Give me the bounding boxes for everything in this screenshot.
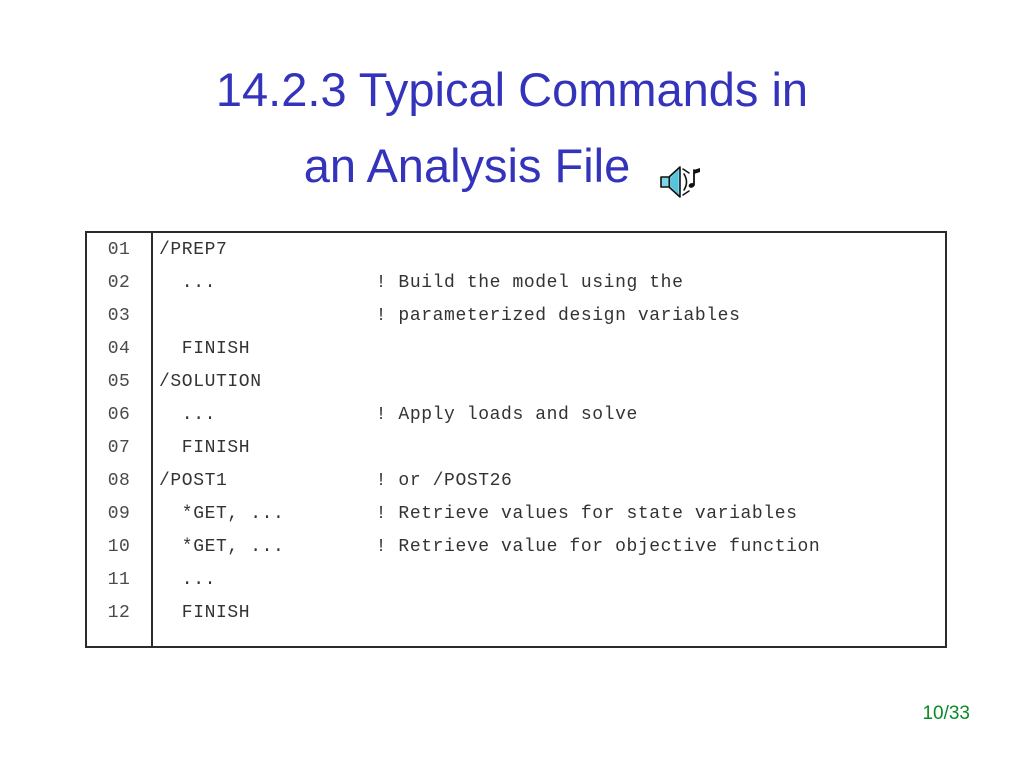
code-line-text: /POST1 ! or /POST26 [151, 471, 945, 491]
code-line-number: 04 [87, 339, 151, 359]
code-line-number: 12 [87, 603, 151, 623]
code-line-row: 05/SOLUTION [87, 365, 945, 398]
code-line-text: *GET, ... ! Retrieve value for objective… [151, 537, 945, 557]
code-line-text: ... [151, 570, 945, 590]
code-line-text: FINISH [151, 603, 945, 623]
code-line-row: 03 ! parameterized design variables [87, 299, 945, 332]
code-line-list: 01/PREP702 ... ! Build the model using t… [87, 233, 945, 629]
code-line-row: 01/PREP7 [87, 233, 945, 266]
page-title-line-1: 14.2.3 Typical Commands in [0, 52, 1024, 128]
page-title: 14.2.3 Typical Commands in an Analysis F… [0, 52, 1024, 204]
code-line-row: 04 FINISH [87, 332, 945, 365]
code-line-row: 06 ... ! Apply loads and solve [87, 398, 945, 431]
code-line-row: 07 FINISH [87, 431, 945, 464]
code-line-text: FINISH [151, 438, 945, 458]
page-title-line-2-wrap: an Analysis File [0, 128, 1016, 204]
code-line-row: 10 *GET, ... ! Retrieve value for object… [87, 530, 945, 563]
page-title-line-2: an Analysis File [304, 139, 631, 192]
code-line-number: 08 [87, 471, 151, 491]
speaker-audio-icon[interactable] [658, 148, 704, 188]
code-line-number: 02 [87, 273, 151, 293]
code-line-text: *GET, ... ! Retrieve values for state va… [151, 504, 945, 524]
code-line-text: ... ! Apply loads and solve [151, 405, 945, 425]
code-line-text: FINISH [151, 339, 945, 359]
code-line-number: 01 [87, 240, 151, 260]
code-line-row: 09 *GET, ... ! Retrieve values for state… [87, 497, 945, 530]
code-line-number: 10 [87, 537, 151, 557]
code-line-text: /SOLUTION [151, 372, 945, 392]
code-line-row: 08/POST1 ! or /POST26 [87, 464, 945, 497]
code-line-text: /PREP7 [151, 240, 945, 260]
code-line-number: 06 [87, 405, 151, 425]
code-line-text: ! parameterized design variables [151, 306, 945, 326]
code-line-row: 11 ... [87, 563, 945, 596]
code-line-number: 03 [87, 306, 151, 326]
code-line-number: 09 [87, 504, 151, 524]
analysis-file-code-block: 01/PREP702 ... ! Build the model using t… [85, 231, 947, 648]
code-line-number: 05 [87, 372, 151, 392]
code-line-text: ... ! Build the model using the [151, 273, 945, 293]
page-number: 10/33 [922, 703, 970, 725]
code-line-number: 07 [87, 438, 151, 458]
code-line-row: 12 FINISH [87, 596, 945, 629]
code-line-number: 11 [87, 570, 151, 590]
code-line-row: 02 ... ! Build the model using the [87, 266, 945, 299]
